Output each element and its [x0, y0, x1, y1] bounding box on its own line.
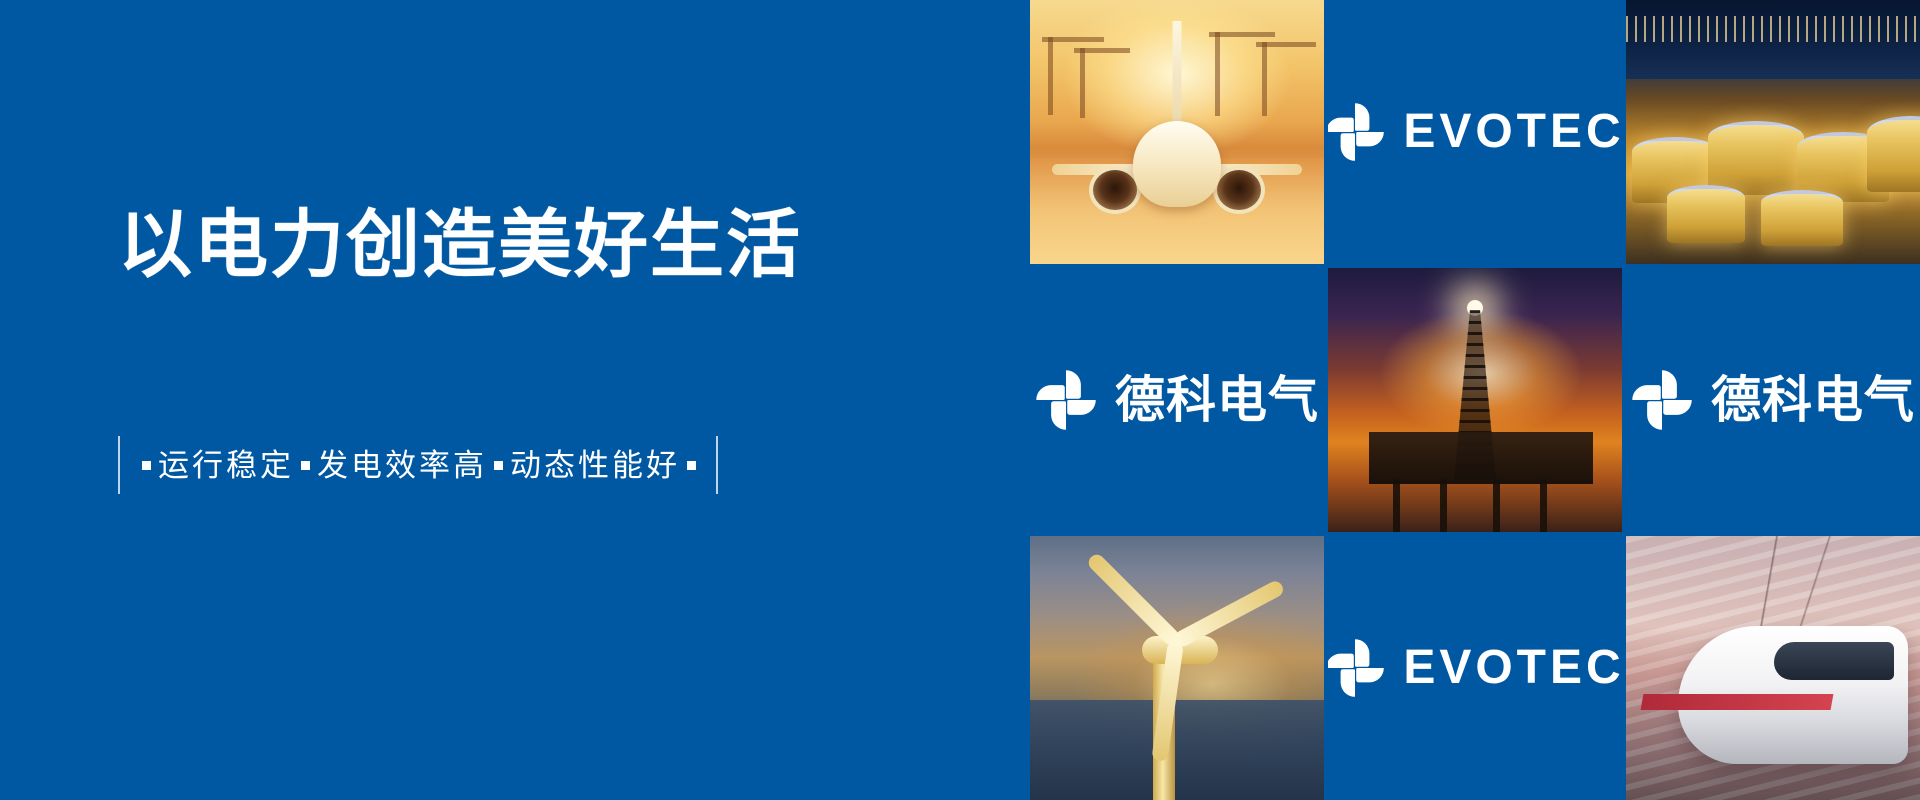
grid-cell-oil-storage-tanks: [1626, 0, 1920, 264]
evotec-wordmark: EVOTEC: [1403, 644, 1622, 692]
tagline-row: 运行稳定 发电效率高 动态性能好: [118, 432, 718, 498]
grid-cell-evotec-logo: EVOTEC: [1328, 0, 1622, 264]
tagline-item-1: 发电效率高: [317, 450, 487, 481]
tagline-items: 运行稳定 发电效率高 动态性能好: [120, 450, 716, 481]
evotec-logo: EVOTEC: [1328, 102, 1622, 162]
bullet-square-icon: [301, 461, 310, 470]
bullet-square-icon: [687, 461, 696, 470]
deke-logo: 德科电气: [1035, 369, 1319, 431]
grid-cell-deke-logo: 德科电气: [1030, 268, 1324, 532]
pinwheel-logo-mark: [1631, 369, 1693, 431]
grid-cell-evotec-logo: EVOTEC: [1328, 536, 1622, 800]
grid-cell-airplane-airport: [1030, 0, 1324, 264]
wind-turbine-image: [1030, 536, 1324, 800]
showcase-grid: EVOTEC: [1030, 0, 1920, 800]
grid-cell-high-speed-train: [1626, 536, 1920, 800]
grid-cell-wind-turbine: [1030, 536, 1324, 800]
deke-logo: 德科电气: [1631, 369, 1915, 431]
tagline-item-2: 动态性能好: [510, 450, 680, 481]
tagline-right-rule: [716, 436, 718, 494]
bullet-square-icon: [142, 461, 151, 470]
grid-cell-deke-logo: 德科电气: [1626, 268, 1920, 532]
pinwheel-logo-mark: [1328, 102, 1385, 162]
oil-storage-tanks-image: [1626, 0, 1920, 264]
offshore-oil-rig-image: [1328, 268, 1622, 532]
tagline-item-0: 运行稳定: [158, 450, 294, 481]
evotec-logo: EVOTEC: [1328, 638, 1622, 698]
pinwheel-logo-mark: [1035, 369, 1097, 431]
promo-banner: 以电力创造美好生活 运行稳定 发电效率高 动态性能好: [0, 0, 1920, 800]
high-speed-train-image: [1626, 536, 1920, 800]
hero-copy-block: 以电力创造美好生活 运行稳定 发电效率高 动态性能好: [0, 0, 1030, 800]
deke-wordmark: 德科电气: [1115, 375, 1319, 425]
page-title: 以电力创造美好生活: [118, 206, 802, 284]
grid-cell-offshore-oil-rig: [1328, 268, 1622, 532]
evotec-wordmark: EVOTEC: [1403, 108, 1622, 156]
bullet-square-icon: [494, 461, 503, 470]
deke-wordmark: 德科电气: [1711, 375, 1915, 425]
airplane-airport-image: [1030, 0, 1324, 264]
pinwheel-logo-mark: [1328, 638, 1385, 698]
